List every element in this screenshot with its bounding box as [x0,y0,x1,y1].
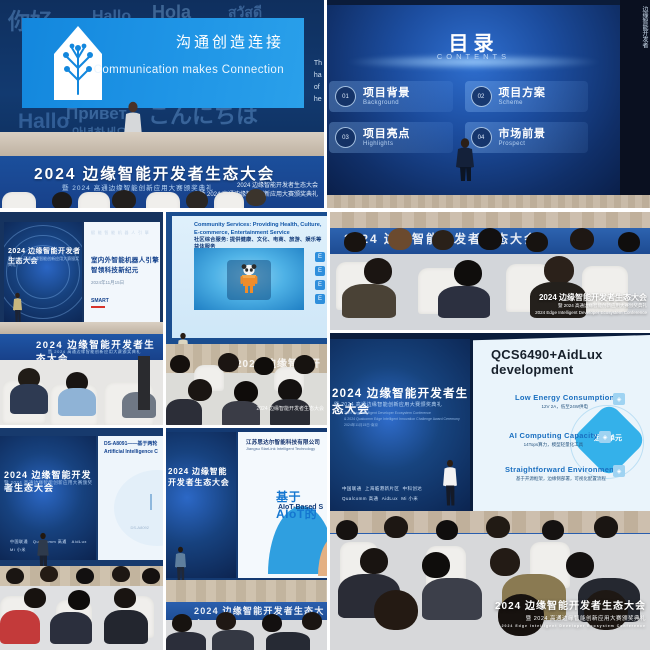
right-screen-brand: SMART [91,298,109,304]
chip-1: E [315,252,325,262]
panel-ai-talk: 2024 边缘智能开发者生态大会 暨 2024 高通边缘智能创新应用大赛颁奖典礼… [0,428,163,650]
left-screen-title: 2024 边缘智能开发者生态大会 [168,466,236,488]
right-edge-text: Thhaofhe [314,58,322,106]
item-number-2: 02 [471,86,492,107]
community-slide: Community Services: Providing Health, Cu… [172,216,327,338]
banner-corner-title: 2024 边缘智能开发者生态大会 [237,183,318,189]
slide-title-en: Communication makes Connection [94,64,284,76]
left-screen-subtitle: 暨 2024 高通边缘智能创新应用大赛颁奖典礼 [4,480,96,492]
logo-4: Qualcomm 高通 [342,496,378,501]
speaker-figure [12,292,23,324]
banner-subtitle: 暨 2024 高通边缘智能创新应用大赛颁奖典礼 [48,349,141,355]
audience-area [166,620,327,650]
item-number-3: 03 [335,127,356,148]
right-screen-footnote: DS-A8092 [131,525,149,530]
contents-slide: 目录 CONTENTS 01 项目背景 Background 02 项目方案 S… [327,5,620,195]
corner-watermark: 2024 边缘智能开发者生态大会 暨 2024 高通边缘智能创新应用大赛颁奖典礼… [535,292,647,316]
panel-contents-agenda: 目录 CONTENTS 01 项目背景 Background 02 项目方案 S… [327,0,650,208]
gear-icon: ◈ [613,465,625,477]
contents-item-2[interactable]: 02 项目方案 Scheme [465,81,589,112]
qcs-slide-title: QCS6490+AidLux development [491,347,650,377]
feature-1-en: Low Energy Consumption [515,393,615,402]
battery-icon: ◈ [613,393,625,405]
logo-1: 中国联通 [10,539,28,544]
panda-mascot-icon [238,264,260,294]
chip-4: E [315,294,325,304]
feature-3: Straightforward Environment 基于开源框架，边缘侧部署… [505,465,617,482]
feature-1: Low Energy Consumption 12V 2A，低至24W供电 [515,393,615,410]
left-screen-en2: & 2024 Qualcomm Edge Intelligent Innovat… [344,417,460,421]
speaker-figure [442,459,458,507]
logo-5: AidLux [382,496,398,501]
item-label-en-4: Prospect [499,141,546,147]
feature-3-zh: 基于开源框架，边缘侧部署，可视化配置流程 [505,476,617,482]
keynote-slide: 沟通创造连接 Communication makes Connection [22,18,304,108]
left-screen-date: 2024年11月15日·南京 [344,423,378,427]
item-label-en-3: Highlights [363,141,410,147]
right-screen: 江苏思达尔智能科技有限公司 Jiangsu StarLink Intellige… [238,432,327,578]
panda-robot-image [194,248,304,310]
item-label-zh-1: 项目背景 [363,87,410,99]
contents-item-4[interactable]: 04 市场前景 Prospect [465,122,589,153]
audience-area [0,586,163,650]
slide-side-chips: E E E E [315,252,325,308]
slide-title-zh: 沟通创造连接 [176,31,284,52]
corner-title: 2024 边缘智能开发者生态大会 [539,293,647,302]
logo-1: 中国联通 [342,486,362,491]
right-screen-title-zh: DS-A8091——基于两轮 [104,441,157,447]
right-screen-title: DS-A8091——基于两轮 Artificial Intelligence C [104,441,161,457]
left-screen-subtitle: 暨 2024 高通边缘智能创新应用大赛颁奖典礼 [8,256,82,268]
panel-audience-wide: 2024 边缘智能开发者生态大会 2024 边缘智能开发者生态大会 暨 2024… [330,212,650,330]
audience-area [330,534,650,650]
feature-2-zh: 14Tops算力，模型轻量化工具 [509,442,598,448]
corner-title: 2024 边缘智能开发者生态大会 [495,601,646,612]
stage-banner: 2024 边缘智能开发者生态大会 暨 2024 高通边缘智能创新应用大赛颁奖典礼… [0,156,324,208]
right-screen-eyebrow: 赋 能 智 能 机 器 人 引 擎 [91,230,150,236]
bg-word-hallo: Hallo [18,110,69,134]
circuit-tree-icon [48,24,108,102]
panel-aiot-talk: 2024 边缘智能开发者生态大会 江苏思达尔智能科技有限公司 Jiangsu S… [166,428,327,650]
speaker-figure [174,546,187,584]
item-label-en-1: Background [363,100,410,106]
panel-community-services: Community Services: Providing Health, Cu… [166,212,327,425]
right-screen: 赋 能 智 能 机 器 人 引 擎 室内外智能机器人引擎 智领科技新纪元 202… [84,222,160,322]
sponsor-logos: 中国联通 上海临港新片区 中科创达 Qualcomm 高通 AidLux Mi … [342,484,422,503]
banner-subtitle: 暨 2024 高通边缘智能创新应用大赛颁奖典礼 [62,182,214,192]
left-screen-en1: 2024 Edge Intelligent Developer Ecosyste… [344,411,431,415]
item-number-1: 01 [335,86,356,107]
right-screen: QCS6490+AidLux development 运算单元 Low Ener… [473,335,650,511]
contents-title-en: CONTENTS [327,52,620,61]
speaker-figure [453,137,477,183]
corner-en: 2024 Edge Intelligent Developer Ecosyste… [495,624,646,628]
company-name-en: Jiangsu StarLink Intelligent Technology [246,446,315,451]
panel-keynote-communication: 你好 Hallo Hola สวัสดี Hallo Привет こんにちは … [0,0,324,208]
chip-icon: ◈ [599,431,611,443]
item-label-en-2: Scheme [499,100,546,106]
right-screen-title-en: AIoT-Based S [278,504,323,511]
stage-wall [166,580,327,602]
left-screen: 2024 边缘智能开发者生态大会 暨 2024 高通边缘智能创新应用大赛颁奖典礼… [330,339,470,511]
stage-area: 2024 边缘智能开发者生态大会 暨 2024 高通边缘智能创新应用大赛颁奖典礼… [330,333,650,511]
logo-3: 中科创达 [403,486,423,491]
slide-title-en: Community Services: Providing Health, Cu… [194,221,325,237]
decor-circle [114,470,163,546]
right-screen-title: 室内外智能机器人引擎 智领科技新纪元 [91,256,160,277]
right-screen: DS-A8091——基于两轮 Artificial Intelligence C… [98,436,163,560]
feature-3-en: Straightforward Environment [505,465,617,474]
left-screen-en: 2024 Edge Intelligent Developer Ecosyste… [344,411,460,429]
right-wall: 边缘智能开发者 [620,0,650,196]
right-screen-title-en: Artificial Intelligence C [104,449,158,455]
logo-4: Mi 小米 [10,547,26,552]
chip-3: E [315,280,325,290]
logo-6: Mi 小米 [401,496,418,501]
feature-2-en: AI Computing Capacity [509,431,598,440]
item-label-zh-3: 项目亮点 [363,128,410,140]
decor-bar [150,494,152,510]
stage-base [327,195,650,208]
contents-item-3[interactable]: 03 项目亮点 Highlights [329,122,453,153]
corner-watermark: 2024 边缘智能开发者生态大会 暨 2024 高通边缘智能创新应用大赛颁奖典礼… [495,597,646,628]
left-screen-subtitle: 暨 2024 高通边缘智能创新应用大赛颁奖典礼 [334,401,442,408]
logo-3: AidLux [72,539,87,544]
item-label-zh-2: 项目方案 [499,87,546,99]
feature-2: AI Computing Capacity 14Tops算力，模型轻量化工具 [509,431,598,448]
audience-area [0,360,163,425]
sponsor-logos: 中国联通 Qualcomm 高通 AidLux Mi 小米 [10,538,96,554]
corner-en: 2024 Edge Intelligent Developer Ecosyste… [535,310,647,316]
corner-sub: 暨 2024 高通边缘智能创新应用大赛颁奖典礼 [495,614,646,622]
photo-collage: 你好 Hallo Hola สวัสดี Hallo Привет こんにちは … [0,0,650,650]
audience-area [166,373,327,425]
company-name-zh: 江苏思达尔智能科技有限公司 [246,438,320,446]
chip-2: E [315,266,325,276]
panel-robot-press-conference: 2024 边缘智能开发者生态大会 暨 2024 高通边缘智能创新应用大赛颁奖典礼… [0,212,163,425]
panel-qcs6490-aidlux: 2024 边缘智能开发者生态大会 暨 2024 高通边缘智能创新应用大赛颁奖典礼… [330,333,650,650]
right-screen-date: 2024年11月15日 [91,280,124,286]
logo-2: 上海临港新片区 [365,486,399,491]
audience-corner-mark: 2024 边缘智能开发者生态大会 [256,406,324,414]
contents-item-1[interactable]: 01 项目背景 Background [329,81,453,112]
item-label-zh-4: 市场前景 [499,128,546,140]
brand-accent-rule [91,306,105,308]
feature-1-zh: 12V 2A，低至24W供电 [515,404,615,410]
banner-title: 2024 边缘智能开发者生态大会 [34,162,275,184]
right-wall-text: 边缘智能开发者 [638,6,648,48]
back-wall [330,212,650,228]
